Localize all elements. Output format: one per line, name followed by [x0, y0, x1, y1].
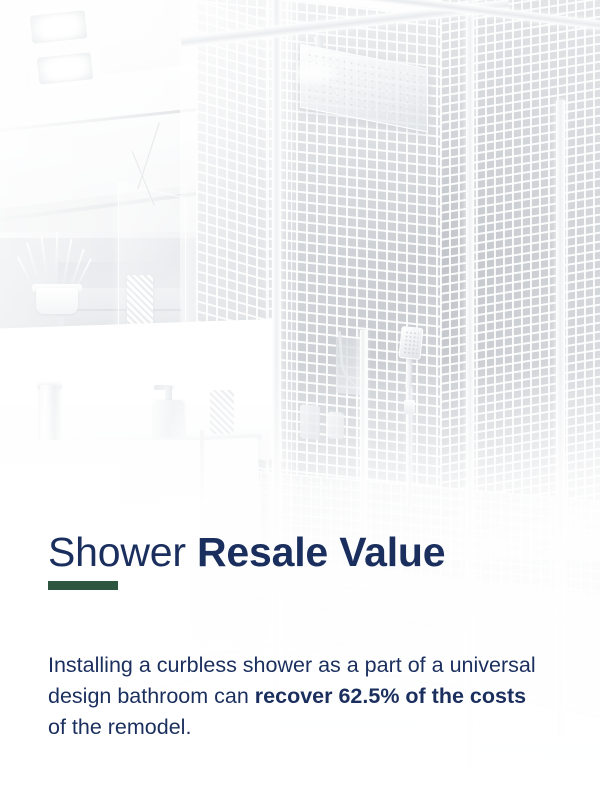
body-line-3-plain: of the remodel.: [48, 715, 191, 739]
accent-divider: [48, 581, 118, 590]
body-line-2-bold: recover: [255, 684, 333, 708]
body-line-1: Installing a curbless shower as a part o…: [48, 653, 444, 677]
page-title-regular: Shower: [48, 529, 197, 575]
page-title: Shower Resale Value: [48, 531, 445, 574]
body-line-3-bold: 62.5% of the costs: [338, 684, 526, 708]
infographic-card: Shower Resale Value Installing a curbles…: [0, 0, 600, 800]
page-title-bold: Resale Value: [197, 529, 445, 575]
body-text: Installing a curbless shower as a part o…: [48, 650, 548, 743]
content-layer: Shower Resale Value Installing a curbles…: [0, 0, 600, 800]
